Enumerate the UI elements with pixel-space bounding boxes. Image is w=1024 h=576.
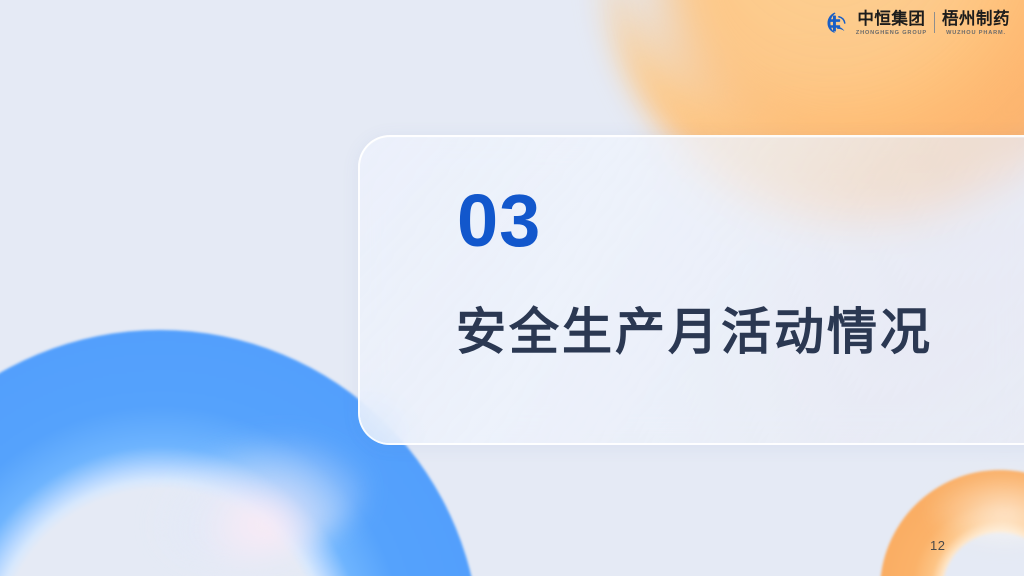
company-logo-text: 中恒集团 ZHONGHENG GROUP 梧州制药 WUZHOU PHARM. [856,11,1010,35]
logo-divider [934,12,935,32]
section-card: 03 安全生产月活动情况 [358,135,1024,445]
brand-sub-cn: 梧州制药 [942,11,1010,28]
section-number: 03 [457,184,541,258]
brand-name-en: ZHONGHENG GROUP [856,30,927,36]
blue-torus-highlight-icon [139,415,381,576]
brand-primary-block: 中恒集团 ZHONGHENG GROUP [856,11,927,35]
brand-sub-en: WUZHOU PHARM. [946,30,1006,36]
brand-secondary-block: 梧州制药 WUZHOU PHARM. [942,11,1010,35]
page-number: 12 [930,538,945,553]
slide-canvas: 03 安全生产月活动情况 中恒集团 ZHONGHENG GROUP 梧州制药 W… [0,0,1024,576]
orange-torus-bottom-right-icon [880,470,1024,576]
orange-torus-highlight-icon [930,472,1024,542]
zhongheng-logo-mark-icon [822,10,849,37]
company-logo: 中恒集团 ZHONGHENG GROUP 梧州制药 WUZHOU PHARM. [822,10,1010,37]
section-title: 安全生产月活动情况 [456,302,933,362]
brand-name-cn: 中恒集团 [857,11,925,28]
